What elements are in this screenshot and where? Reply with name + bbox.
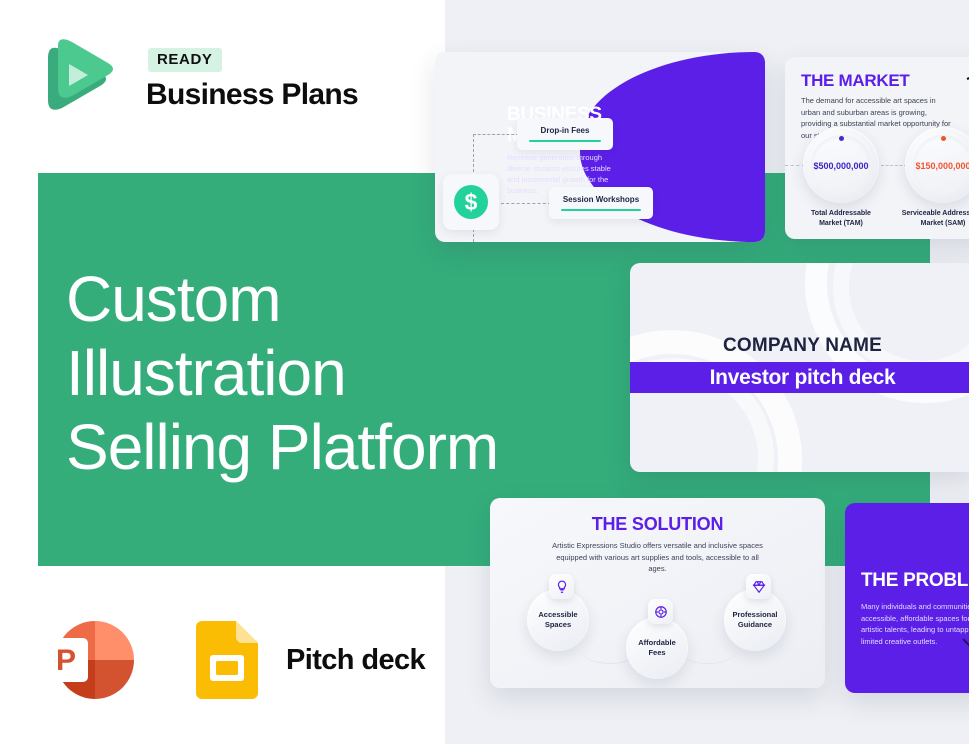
- market-title: THE MARKET: [801, 71, 909, 91]
- market-metric-value: $150,000,000: [905, 161, 969, 171]
- caption-line-1: Total Addressable: [791, 209, 891, 219]
- slide-company-name[interactable]: COMPANY NAME Investor pitch deck: [630, 263, 969, 472]
- market-metric-dial: $150,000,000: [905, 127, 969, 203]
- node-label-line-2: Fees: [638, 648, 676, 658]
- page-title-line-1: Custom: [66, 262, 536, 336]
- caption-line-1: Serviceable Addressable: [893, 209, 969, 219]
- market-metric-caption: Serviceable Addressable Market (SAM): [893, 209, 969, 228]
- business-model-item[interactable]: Drop-in Fees: [517, 118, 613, 150]
- svg-text:P: P: [56, 644, 76, 677]
- left-white-margin: [0, 0, 38, 744]
- node-label-line-1: Professional: [732, 610, 777, 620]
- format-label: Pitch deck: [286, 644, 425, 677]
- solution-connector-right: [680, 638, 736, 664]
- node-label-line-2: Guidance: [732, 620, 777, 630]
- business-model-icon-box: $: [443, 174, 499, 230]
- solution-title: THE SOLUTION: [490, 514, 825, 535]
- dial-indicator-dot: [839, 136, 844, 141]
- slide-business-model[interactable]: BUSINESS MODEL Revenue generation throug…: [435, 52, 765, 242]
- node-label-line-2: Spaces: [538, 620, 577, 630]
- solution-node-label: Professional Guidance: [732, 610, 777, 630]
- solution-node-label: Accessible Spaces: [538, 610, 577, 630]
- connector-middle: [501, 203, 551, 204]
- market-metric-dial: $500,000,000: [803, 127, 879, 203]
- dial-indicator-dot: [941, 136, 946, 141]
- node-label-line-1: Accessible: [538, 610, 577, 620]
- caption-line-2: Market (SAM): [893, 219, 969, 229]
- item-underline: [529, 140, 602, 143]
- page-title: Custom Illustration Selling Platform: [66, 262, 536, 484]
- item-underline: [561, 209, 640, 212]
- market-connector-left: [785, 165, 805, 166]
- slide-solution[interactable]: THE SOLUTION Artistic Expressions Studio…: [490, 498, 825, 688]
- brand-name: Business Plans: [146, 78, 358, 112]
- solution-node[interactable]: Affordable Fees: [626, 617, 688, 679]
- business-model-item-label: Session Workshops: [563, 195, 639, 204]
- google-slides-icon: [196, 621, 258, 699]
- company-name-title: COMPANY NAME: [630, 335, 969, 357]
- market-metric-caption: Total Addressable Market (TAM): [791, 209, 891, 228]
- format-row: P Pitch deck: [42, 616, 425, 704]
- page-title-line-2: Illustration: [66, 336, 536, 410]
- node-label-line-1: Affordable: [638, 638, 676, 648]
- company-name-subtitle: Investor pitch deck: [630, 366, 969, 390]
- dollar-icon: $: [454, 185, 488, 219]
- curved-line-icon: [961, 635, 969, 675]
- slide-problem[interactable]: THE PROBLEM Many individuals and communi…: [845, 503, 969, 693]
- problem-title: THE PROBLEM: [861, 570, 969, 592]
- market-connector-middle: [881, 165, 907, 166]
- powerpoint-icon: P: [42, 616, 140, 704]
- slide-market[interactable]: THE MARKET The demand for accessible art…: [785, 57, 969, 239]
- business-model-item-label: Drop-in Fees: [541, 126, 590, 135]
- diamond-icon: [746, 574, 771, 599]
- solution-description: Artistic Expressions Studio offers versa…: [552, 540, 763, 575]
- problem-description: Many individuals and communities lack ac…: [861, 601, 969, 647]
- brand-logo-block: READY Business Plans: [38, 34, 338, 120]
- lightbulb-icon: [549, 574, 574, 599]
- curved-arrow-icon: [965, 71, 969, 119]
- business-model-item[interactable]: Session Workshops: [549, 187, 653, 219]
- connector-top: [473, 134, 519, 135]
- caption-line-2: Market (TAM): [791, 219, 891, 229]
- page-title-line-3: Selling Platform: [66, 410, 536, 484]
- solution-node-label: Affordable Fees: [638, 638, 676, 658]
- play-triangle-logo-icon: [38, 38, 114, 116]
- target-icon: [648, 599, 673, 624]
- market-metric-value: $500,000,000: [803, 161, 879, 171]
- ready-badge: READY: [148, 48, 222, 72]
